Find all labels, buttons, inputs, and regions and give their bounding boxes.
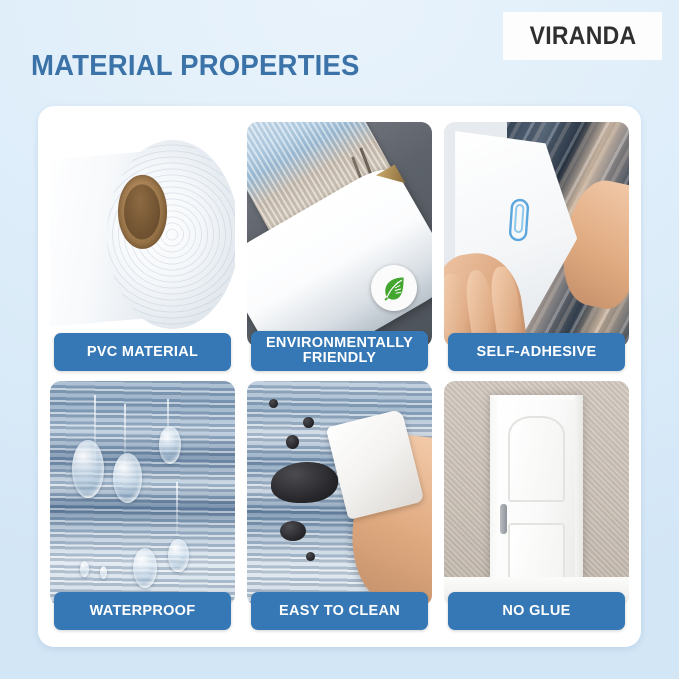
roll-core-inner: [125, 185, 161, 240]
feature-label-waterproof: WATERPROOF: [54, 592, 231, 630]
paperclip-icon: [506, 197, 531, 244]
feature-card-self-adhesive[interactable]: SELF-ADHESIVE: [444, 122, 629, 371]
feature-image-pvc-material: [50, 122, 235, 347]
features-panel: PVC MATERIAL: [38, 106, 641, 647]
feature-image-self-adhesive: [444, 122, 629, 347]
easy-clean-illustration: [247, 381, 432, 606]
feature-image-easy-to-clean: [247, 381, 432, 606]
water-droplet-5: [168, 539, 188, 573]
feature-label-easy-to-clean: EASY TO CLEAN: [251, 592, 428, 630]
stain-smear-main: [271, 462, 338, 503]
stain-spot-2: [303, 417, 314, 428]
brand-logo-text: VIRANDA: [529, 22, 636, 51]
feature-image-waterproof: [50, 381, 235, 606]
feature-label-environmentally-friendly: ENVIRONMENTALLY FRIENDLY: [251, 331, 428, 371]
feature-label-pvc-material: PVC MATERIAL: [54, 333, 231, 371]
eco-roll-illustration: [247, 122, 432, 347]
pvc-roll-illustration: [50, 122, 235, 347]
roll-core: [118, 175, 168, 249]
water-droplet-2: [113, 453, 143, 503]
water-droplet-1: [72, 440, 103, 499]
feature-image-no-glue: [444, 381, 629, 606]
stain-spot-5: [280, 521, 306, 541]
feature-card-waterproof[interactable]: WATERPROOF: [50, 381, 235, 630]
waterproof-illustration: [50, 381, 235, 606]
feature-card-environmentally-friendly[interactable]: ENVIRONMENTALLY FRIENDLY: [247, 122, 432, 371]
features-grid: PVC MATERIAL: [50, 122, 629, 630]
page-header: MATERIAL PROPERTIES VIRANDA: [0, 0, 679, 106]
feature-image-environmentally-friendly: [247, 122, 432, 347]
door-frame: [490, 395, 583, 593]
water-droplet-6: [80, 561, 89, 577]
stain-spot-3: [286, 435, 299, 449]
door-panel-bottom: [508, 523, 565, 584]
droplet-trail-4: [176, 482, 178, 536]
door-leaf: [498, 400, 576, 592]
feature-card-easy-to-clean[interactable]: EASY TO CLEAN: [247, 381, 432, 630]
door-illustration: [444, 381, 629, 606]
brand-logo: VIRANDA: [503, 12, 662, 60]
door-handle: [500, 504, 507, 534]
peel-illustration: [444, 122, 629, 347]
feature-label-no-glue: NO GLUE: [448, 592, 625, 630]
leaf-icon: [371, 265, 417, 311]
feature-card-no-glue[interactable]: NO GLUE: [444, 381, 629, 630]
page-title: MATERIAL PROPERTIES: [31, 50, 360, 83]
feature-card-pvc-material[interactable]: PVC MATERIAL: [50, 122, 235, 371]
feature-label-self-adhesive: SELF-ADHESIVE: [448, 333, 625, 371]
door-panel-top: [508, 416, 565, 502]
